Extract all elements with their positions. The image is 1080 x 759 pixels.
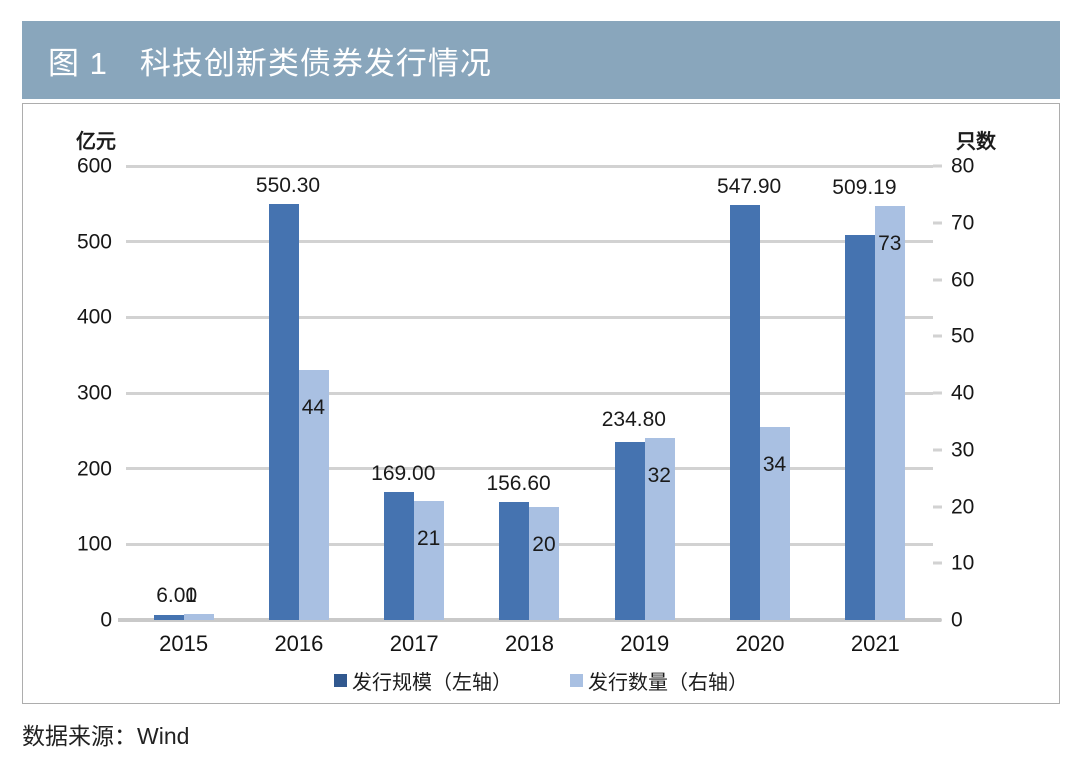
right-tick-label: 40 — [951, 383, 974, 404]
right-tick-mark — [933, 448, 942, 451]
data-label-count: 34 — [763, 454, 786, 475]
right-tick-mark — [933, 392, 942, 395]
x-axis-labels: 2015201620172018201920202021 — [126, 631, 933, 657]
x-axis-label: 2021 — [818, 631, 933, 657]
right-tick-mark — [933, 221, 942, 224]
data-label-count: 44 — [302, 397, 325, 418]
plot-area: 6005004003002001000 80706050403020100 6.… — [126, 166, 933, 620]
figure-title: 图 1 科技创新类债券发行情况 — [22, 38, 492, 83]
bar-issuance-scale — [845, 235, 875, 620]
legend-item[interactable]: 发行数量（右轴） — [570, 666, 748, 695]
bar-groups: 6.001550.3044169.0021156.6020234.8032547… — [126, 166, 933, 620]
legend-item[interactable]: 发行规模（左轴） — [334, 666, 512, 695]
legend-label: 发行数量（右轴） — [588, 666, 748, 695]
data-label-count: 73 — [878, 233, 901, 254]
right-tick-label: 10 — [951, 553, 974, 574]
x-axis-label: 2020 — [702, 631, 817, 657]
figure-page: 图 1 科技创新类债券发行情况 亿元 只数 600500400300200100… — [0, 0, 1080, 759]
right-tick-label: 70 — [951, 212, 974, 233]
bar-issuance-scale — [615, 442, 645, 620]
bar-issuance-count — [875, 206, 905, 620]
right-tick-label: 30 — [951, 439, 974, 460]
bar-issuance-scale — [730, 205, 760, 620]
bar-group: 547.9034 — [702, 166, 817, 620]
bar-issuance-scale — [154, 615, 184, 620]
right-tick-mark — [933, 562, 942, 565]
bar-issuance-count — [529, 507, 559, 621]
left-tick-label: 300 — [77, 383, 112, 404]
data-label-count: 21 — [417, 528, 440, 549]
bar-issuance-scale — [499, 502, 529, 620]
right-tick-label: 60 — [951, 269, 974, 290]
x-axis-label: 2015 — [126, 631, 241, 657]
right-tick-label: 80 — [951, 156, 974, 177]
left-tick-label: 400 — [77, 307, 112, 328]
data-label-count: 1 — [185, 585, 197, 606]
right-tick-label: 0 — [951, 610, 963, 631]
right-tick-label: 50 — [951, 326, 974, 347]
data-label-count: 20 — [532, 534, 555, 555]
bar-group: 169.0021 — [357, 166, 472, 620]
right-tick-mark — [933, 278, 942, 281]
bar-issuance-count — [184, 614, 214, 620]
data-label-scale: 156.60 — [486, 473, 550, 494]
left-tick-label: 0 — [100, 610, 112, 631]
x-axis-label: 2018 — [472, 631, 587, 657]
bar-group: 550.3044 — [241, 166, 356, 620]
bar-issuance-scale — [269, 204, 299, 620]
bar-issuance-scale — [384, 492, 414, 620]
legend-swatch-icon — [334, 674, 347, 687]
bar-issuance-count — [414, 501, 444, 620]
left-axis-title: 亿元 — [76, 125, 116, 154]
bar-group: 156.6020 — [472, 166, 587, 620]
source-note: 数据来源：Wind — [22, 717, 189, 751]
data-label-scale: 547.90 — [717, 176, 781, 197]
x-axis-label: 2016 — [241, 631, 356, 657]
right-tick-mark — [933, 335, 942, 338]
left-tick-label: 200 — [77, 458, 112, 479]
figure-title-band: 图 1 科技创新类债券发行情况 — [22, 21, 1060, 99]
legend-label: 发行规模（左轴） — [352, 666, 512, 695]
right-tick-mark — [933, 505, 942, 508]
chart-frame: 亿元 只数 6005004003002001000 80706050403020… — [22, 103, 1060, 704]
data-label-scale: 550.30 — [256, 175, 320, 196]
bar-group: 6.001 — [126, 166, 241, 620]
left-tick-label: 500 — [77, 231, 112, 252]
x-axis-label: 2017 — [357, 631, 472, 657]
legend-swatch-icon — [570, 674, 583, 687]
bar-group: 234.8032 — [587, 166, 702, 620]
bar-group: 509.1973 — [818, 166, 933, 620]
data-label-count: 32 — [648, 465, 671, 486]
chart-legend: 发行规模（左轴）发行数量（右轴） — [23, 666, 1059, 695]
data-label-scale: 234.80 — [602, 409, 666, 430]
x-axis-label: 2019 — [587, 631, 702, 657]
data-label-scale: 169.00 — [371, 463, 435, 484]
right-tick-mark — [933, 165, 942, 168]
data-label-scale: 509.19 — [832, 177, 896, 198]
right-tick-label: 20 — [951, 496, 974, 517]
left-tick-label: 600 — [77, 156, 112, 177]
left-tick-label: 100 — [77, 534, 112, 555]
right-axis-title: 只数 — [956, 125, 996, 154]
